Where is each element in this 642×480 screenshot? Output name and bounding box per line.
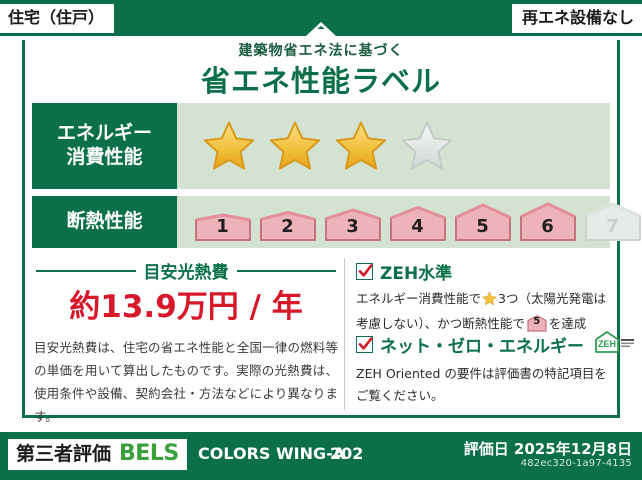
zeh-net-title: ネット・ゼロ・エネルギー — [380, 332, 584, 357]
insulation-house-filled: 5 — [451, 202, 514, 242]
label-title: 省エネ性能ラベル — [0, 58, 642, 100]
insulation-house-filled: 1 — [191, 202, 254, 242]
unit-number: 202 — [330, 444, 363, 463]
insulation-performance-row: 断熱性能 1234567 — [32, 196, 610, 248]
bels-certification-mark: 第三者評価 BELS — [8, 439, 187, 470]
bels-energy-label: 住宅（住戸） 再エネ設備なし 建築物省エネ法に基づく 省エネ性能ラベル エネルギ… — [0, 0, 642, 480]
zeh-net-title-row: ネット・ゼロ・エネルギー ZEH — [356, 330, 614, 359]
star-filled-icon — [267, 119, 323, 173]
energy-star-rating — [177, 119, 610, 173]
evaluation-date: 評価日 2025年12月8日 — [464, 438, 632, 459]
rule-left — [36, 270, 136, 272]
insulation-house-filled: 4 — [386, 202, 449, 242]
inline-star-icon — [482, 294, 497, 309]
star-filled-icon — [201, 119, 257, 173]
building-name: COLORS WING-A — [198, 444, 345, 463]
insulation-level-scale: 1234567 — [177, 202, 642, 242]
zeh-level-checkbox — [356, 263, 373, 280]
zeh-net-checkbox — [356, 336, 373, 353]
label-footer: 第三者評価 BELS COLORS WING-A 202 評価日 2025年12… — [0, 432, 642, 480]
energy-key-line1: エネルギー — [57, 122, 152, 146]
energy-performance-key: エネルギー 消費性能 — [32, 103, 177, 189]
inline-house-number: 5 — [527, 313, 547, 330]
zeh-level-block: ZEH水準 エネルギー消費性能で3つ（太陽光発電は考慮しない）、かつ断熱性能で5… — [356, 259, 614, 334]
insulation-house-filled: 3 — [321, 202, 384, 242]
rule-right — [237, 270, 337, 272]
insulation-house-number: 1 — [191, 216, 254, 237]
insulation-house-number: 2 — [256, 216, 319, 237]
zeh-level-title-row: ZEH水準 — [356, 259, 614, 284]
zeh-level-title: ZEH水準 — [380, 259, 452, 284]
star-filled-icon — [333, 119, 389, 173]
utility-cost-heading: 目安光熱費 — [36, 258, 336, 283]
svg-text:ZEH: ZEH — [598, 339, 616, 349]
zeh-desc-part3: を達成 — [549, 316, 587, 331]
label-subtitle: 建築物省エネ法に基づく — [0, 40, 642, 60]
star-empty-icon — [399, 119, 455, 173]
column-divider — [344, 258, 345, 410]
insulation-house-number: 3 — [321, 216, 384, 237]
evaluation-id: 482ec320-1a97-4135 — [521, 458, 632, 469]
zeh-net-zero-block: ネット・ゼロ・エネルギー ZEH ZEH Oriented の要件は評価書の特記… — [356, 330, 614, 406]
insulation-house-empty: 7 — [581, 202, 642, 242]
utility-cost-heading-text: 目安光熱費 — [144, 258, 229, 283]
insulation-house-number: 4 — [386, 216, 449, 237]
energy-performance-row: エネルギー 消費性能 — [32, 103, 610, 189]
insulation-house-filled: 2 — [256, 202, 319, 242]
insulation-house-number: 6 — [516, 216, 579, 237]
badge-building-type: 住宅（住戸） — [0, 4, 114, 33]
utility-cost-amount: 約13.9万円 / 年 — [36, 281, 336, 326]
utility-cost-note: 目安光熱費は、住宅の省エネ性能と全国一律の燃料等の単価を用いて算出したものです。… — [34, 336, 338, 429]
insulation-performance-key: 断熱性能 — [32, 196, 177, 248]
energy-key-line2: 消費性能 — [66, 146, 142, 170]
zeh-net-description: ZEH Oriented の要件は評価書の特記項目をご覧ください。 — [356, 363, 614, 406]
inline-house-badge: 5 — [527, 315, 547, 332]
bels-en-text: BELS — [119, 443, 179, 465]
bels-jp-text: 第三者評価 — [16, 445, 111, 464]
zeh-desc-part1: エネルギー消費性能で — [356, 291, 481, 306]
insulation-house-number: 5 — [451, 216, 514, 237]
insulation-house-number: 7 — [581, 216, 642, 237]
zeh-level-description: エネルギー消費性能で3つ（太陽光発電は考慮しない）、かつ断熱性能で5を達成 — [356, 288, 614, 334]
insulation-house-filled: 6 — [516, 202, 579, 242]
zeh-logo-icon: ZEH — [593, 330, 637, 359]
badge-renewable-equipment: 再エネ設備なし — [512, 4, 642, 33]
